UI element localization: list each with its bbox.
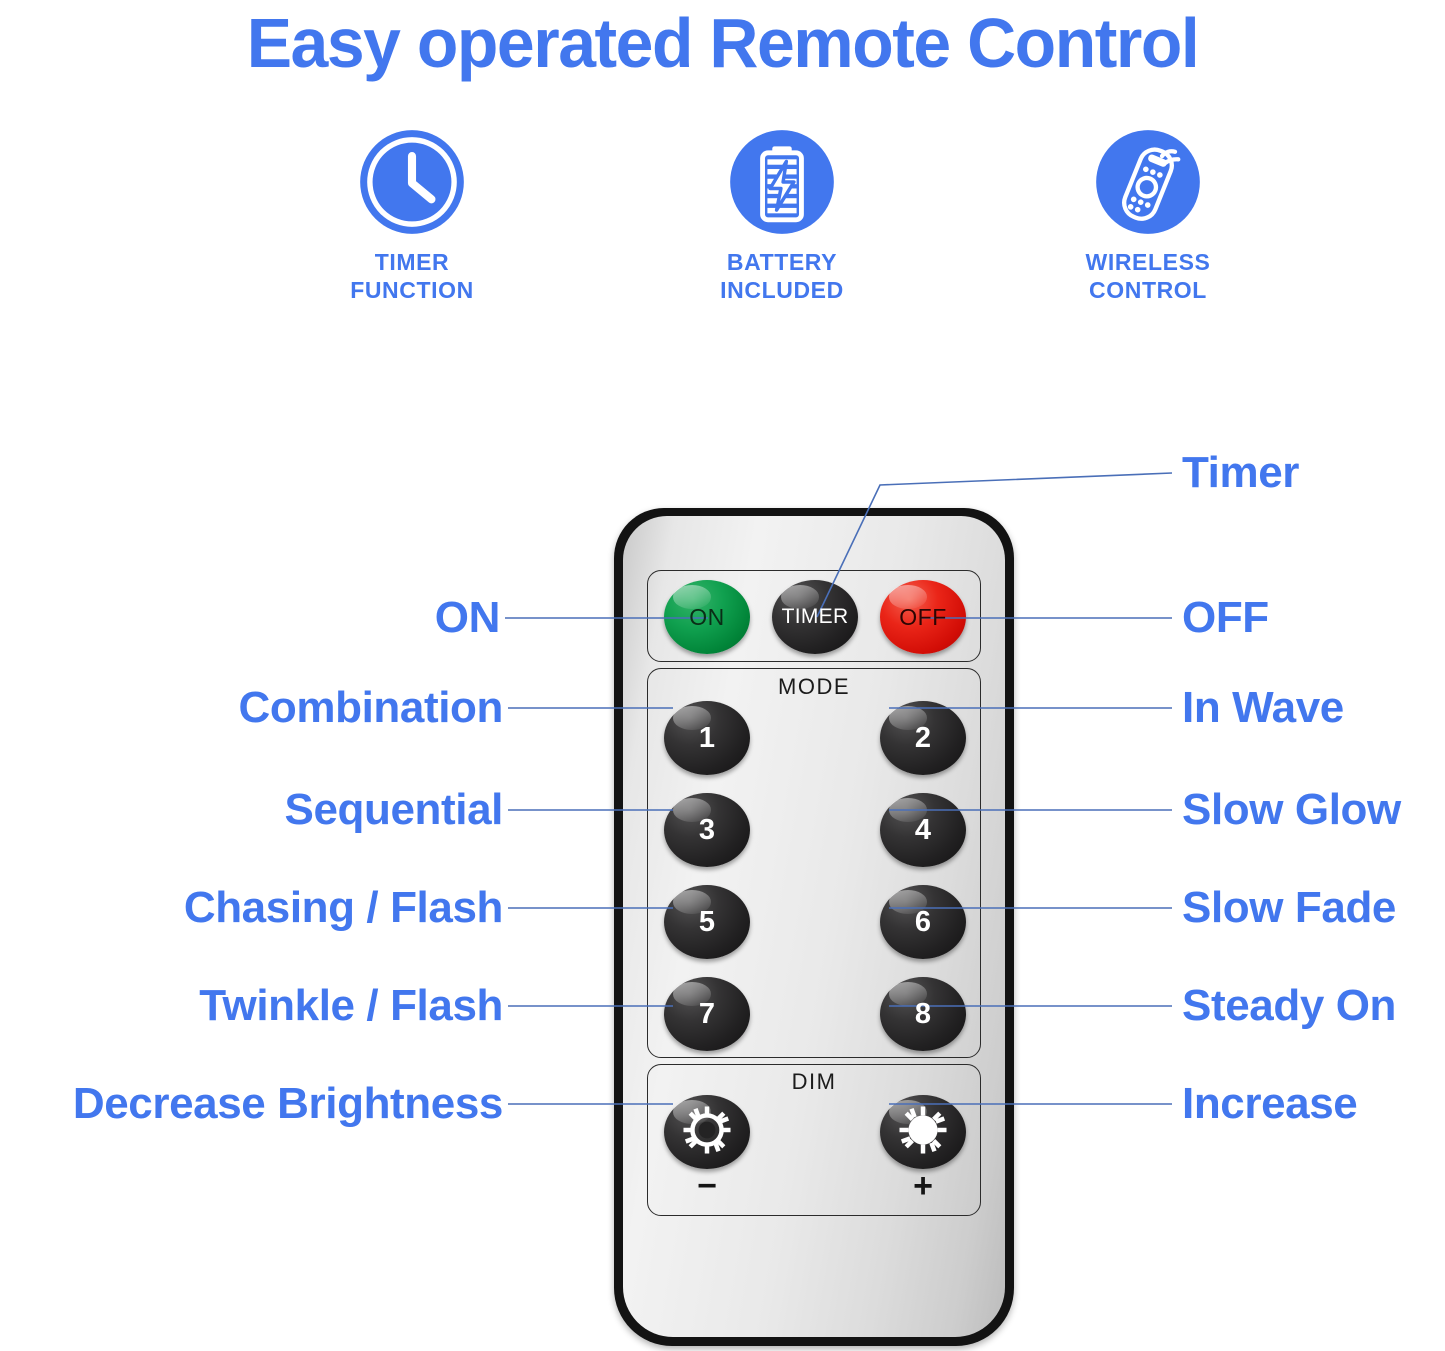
callout-slow-glow: Slow Glow	[1182, 788, 1401, 832]
on-button-label: ON	[689, 604, 725, 631]
mode-button-label: 4	[915, 814, 931, 847]
mode-button-label: 1	[699, 722, 715, 755]
mode-panel-title: MODE	[648, 674, 980, 700]
callout-steady-on: Steady On	[1182, 984, 1396, 1028]
dim-panel-title: DIM	[648, 1069, 980, 1095]
callout-on: ON	[435, 596, 500, 640]
timer-button-label: TIMER	[782, 605, 849, 629]
off-button[interactable]: OFF	[880, 580, 966, 654]
mode-button-label: 5	[699, 906, 715, 939]
mode-button-label: 2	[915, 722, 931, 755]
mode-button-8[interactable]: 8	[880, 977, 966, 1051]
callout-timer: Timer	[1182, 451, 1299, 495]
feature-wireless-control: WIRELESS CONTROL	[998, 128, 1298, 304]
dim-increase-sign: +	[880, 1169, 966, 1203]
mode-button-4[interactable]: 4	[880, 793, 966, 867]
mode-button-3[interactable]: 3	[664, 793, 750, 867]
mode-button-label: 6	[915, 906, 931, 939]
clock-icon	[358, 128, 466, 236]
dim-decrease-sign: −	[664, 1169, 750, 1203]
remote-icon	[1094, 128, 1202, 236]
feature-label: WIRELESS CONTROL	[1086, 248, 1211, 304]
mode-button-7[interactable]: 7	[664, 977, 750, 1051]
feature-label: TIMER FUNCTION	[350, 248, 474, 304]
mode-button-label: 3	[699, 814, 715, 847]
power-panel: ON TIMER OFF	[647, 570, 981, 662]
callout-increase: Increase	[1182, 1082, 1357, 1126]
product-infographic: Easy operated Remote Control TIMER FUNCT…	[0, 0, 1445, 1351]
battery-icon	[728, 128, 836, 236]
callout-twinkle-flash: Twinkle / Flash	[199, 984, 503, 1028]
dim-panel: DIM	[647, 1064, 981, 1216]
callout-slow-fade: Slow Fade	[1182, 886, 1396, 930]
callout-in-wave: In Wave	[1182, 686, 1344, 730]
on-button[interactable]: ON	[664, 580, 750, 654]
callout-decrease-brightness: Decrease Brightness	[73, 1082, 503, 1126]
callout-sequential: Sequential	[285, 788, 504, 832]
mode-button-6[interactable]: 6	[880, 885, 966, 959]
callout-off: OFF	[1182, 596, 1269, 640]
off-button-label: OFF	[899, 604, 947, 631]
mode-button-5[interactable]: 5	[664, 885, 750, 959]
mode-button-2[interactable]: 2	[880, 701, 966, 775]
mode-panel: MODE 1 2 3 4 5 6	[647, 668, 981, 1058]
remote-control-device: ON TIMER OFF MODE 1 2	[614, 508, 1014, 1346]
timer-button[interactable]: TIMER	[772, 580, 858, 654]
dim-decrease-button[interactable]	[664, 1095, 750, 1169]
dim-increase-button[interactable]	[880, 1095, 966, 1169]
mode-button-label: 7	[699, 998, 715, 1031]
page-title: Easy operated Remote Control	[22, 0, 1424, 86]
feature-timer-function: TIMER FUNCTION	[262, 128, 562, 304]
feature-battery-included: BATTERY INCLUDED	[632, 128, 932, 304]
callout-combination: Combination	[239, 686, 503, 730]
brightness-high-icon	[895, 1102, 951, 1163]
mode-button-1[interactable]: 1	[664, 701, 750, 775]
feature-label: BATTERY INCLUDED	[720, 248, 844, 304]
brightness-low-icon	[679, 1102, 735, 1163]
feature-badge-row: TIMER FUNCTION BATTERY INCLUDED	[0, 128, 1445, 318]
callout-chasing-flash: Chasing / Flash	[184, 886, 503, 930]
mode-button-label: 8	[915, 998, 931, 1031]
